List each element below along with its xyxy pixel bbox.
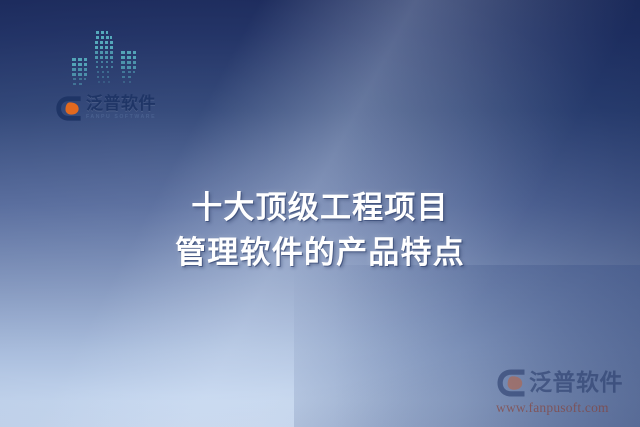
- slide-canvas: 泛普软件 FANPU SOFTWARE 十大顶级工程项目 管理软件的产品特点 泛…: [0, 0, 640, 427]
- fanpu-swoosh-logo-icon: [496, 368, 526, 398]
- slide-title-line-2: 管理软件的产品特点: [0, 231, 640, 276]
- brand-text-block: 泛普软件 FANPU SOFTWARE: [86, 96, 156, 120]
- watermark-url: www.fanpusoft.com: [496, 400, 632, 416]
- slide-title: 十大顶级工程项目 管理软件的产品特点: [0, 186, 640, 276]
- watermark: 泛普软件 www.fanpusoft.com: [496, 367, 632, 419]
- brand-name-cn: 泛普软件: [86, 96, 156, 113]
- watermark-logo-row: 泛普软件: [496, 367, 632, 399]
- slide-title-line-1: 十大顶级工程项目: [0, 186, 640, 231]
- pixel-city-skyline-icon: [68, 27, 142, 91]
- watermark-name-cn: 泛普软件: [529, 372, 623, 395]
- fanpu-swoosh-logo-icon: [55, 95, 82, 122]
- brand-name-en: FANPU SOFTWARE: [86, 115, 156, 120]
- brand-logo: 泛普软件 FANPU SOFTWARE: [55, 91, 156, 125]
